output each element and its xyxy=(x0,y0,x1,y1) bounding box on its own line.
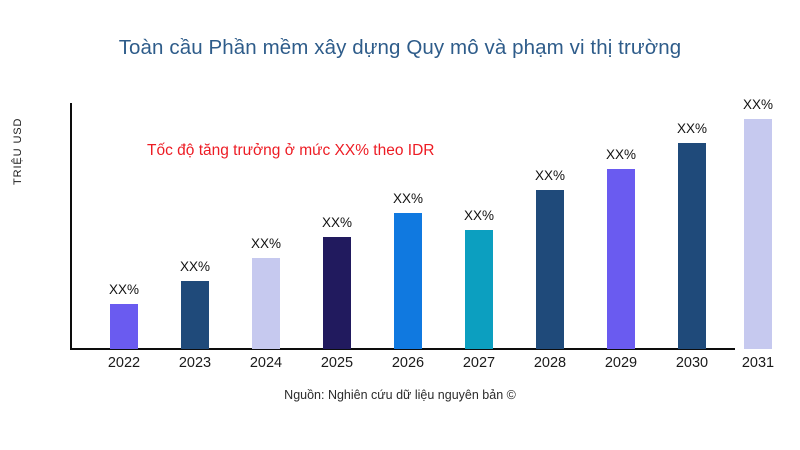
bar-value-label-2027: XX% xyxy=(449,208,509,223)
source-caption: Nguồn: Nghiên cứu dữ liệu nguyên bản © xyxy=(0,388,800,402)
bar-value-label-2026: XX% xyxy=(378,191,438,206)
bar-2023[interactable] xyxy=(181,281,209,349)
x-tick-label-2022: 2022 xyxy=(92,355,156,371)
bar-value-label-2031: XX% xyxy=(728,97,788,112)
bar-value-label-2030: XX% xyxy=(662,121,722,136)
bar-2022[interactable] xyxy=(110,304,138,349)
bar-2025[interactable] xyxy=(323,237,351,349)
bar-2024[interactable] xyxy=(252,258,280,349)
bar-2026[interactable] xyxy=(394,213,422,349)
x-tick-label-2023: 2023 xyxy=(163,355,227,371)
bar-2027[interactable] xyxy=(465,230,493,349)
x-tick-label-2026: 2026 xyxy=(376,355,440,371)
bar-2029[interactable] xyxy=(607,169,635,349)
bar-value-label-2022: XX% xyxy=(94,282,154,297)
x-tick-label-2031: 2031 xyxy=(726,355,790,371)
bar-value-label-2024: XX% xyxy=(236,236,296,251)
bar-value-label-2025: XX% xyxy=(307,215,367,230)
x-tick-label-2025: 2025 xyxy=(305,355,369,371)
x-tick-label-2027: 2027 xyxy=(447,355,511,371)
bar-2028[interactable] xyxy=(536,190,564,349)
bar-2031[interactable] xyxy=(744,119,772,349)
bar-value-label-2023: XX% xyxy=(165,259,225,274)
x-tick-label-2024: 2024 xyxy=(234,355,298,371)
bar-value-label-2028: XX% xyxy=(520,168,580,183)
chart-container: Toàn cầu Phần mềm xây dựng Quy mô và phạ… xyxy=(0,0,800,450)
plot-area: XX%2022XX%2023XX%2024XX%2025XX%2026XX%20… xyxy=(0,0,800,450)
bar-value-label-2029: XX% xyxy=(591,147,651,162)
bar-2030[interactable] xyxy=(678,143,706,349)
x-tick-label-2029: 2029 xyxy=(589,355,653,371)
x-tick-label-2028: 2028 xyxy=(518,355,582,371)
x-tick-label-2030: 2030 xyxy=(660,355,724,371)
